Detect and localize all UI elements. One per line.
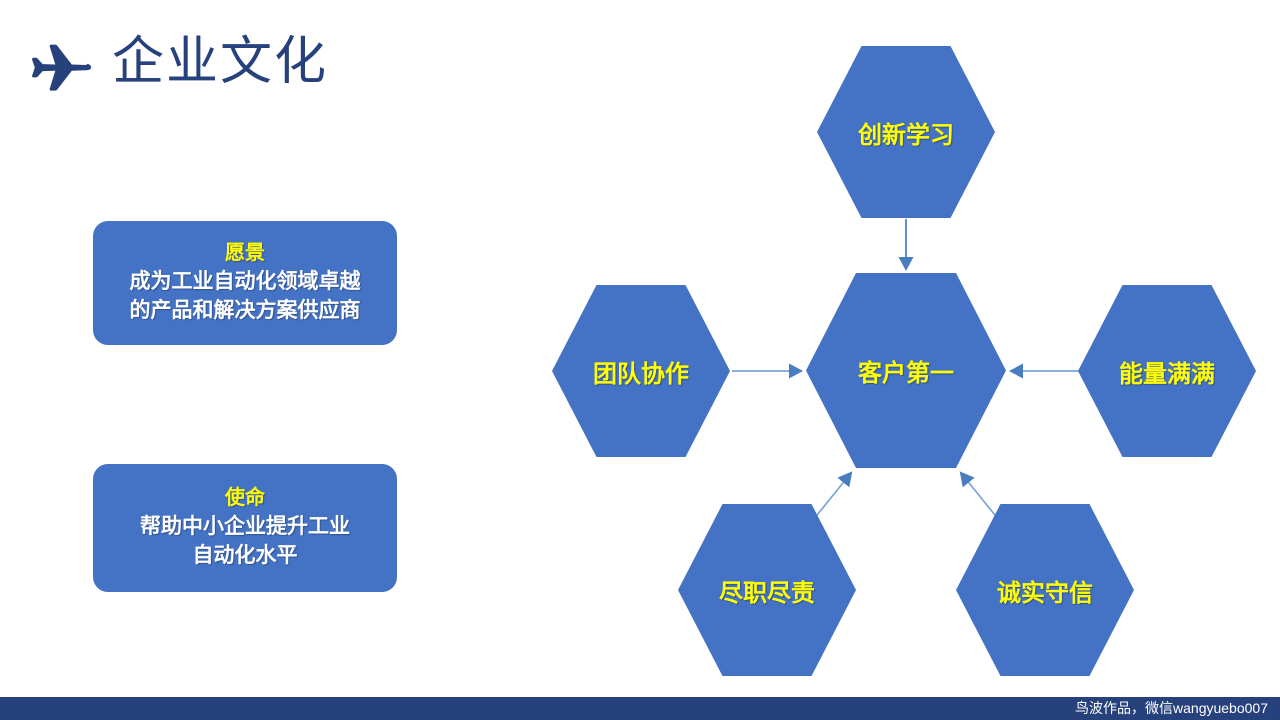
hexagon-integrity[interactable]: 诚实守信 <box>956 504 1134 676</box>
vision-card: 愿景 成为工业自动化领域卓越 的产品和解决方案供应商 <box>93 221 397 345</box>
hexagon-energy[interactable]: 能量满满 <box>1078 285 1256 457</box>
footer-credit: 鸟波作品，微信wangyuebo007 <box>1075 697 1268 720</box>
mission-card-body: 帮助中小企业提升工业 自动化水平 <box>140 512 350 570</box>
hexagon-diligence-label: 尽职尽责 <box>719 573 815 608</box>
hexagon-customer-first[interactable]: 客户第一 <box>806 273 1006 468</box>
hexagon-teamwork-label: 团队协作 <box>593 354 689 389</box>
hexagon-diagram: 创新学习 团队协作 客户第一 能量满满 尽职尽责 诚实守信 <box>520 10 1280 700</box>
hexagon-innovation-label: 创新学习 <box>858 115 954 150</box>
hexagon-integrity-label: 诚实守信 <box>997 573 1093 608</box>
mission-card-heading: 使命 <box>225 485 265 512</box>
hexagon-diligence[interactable]: 尽职尽责 <box>678 504 856 676</box>
airplane-icon <box>24 30 96 102</box>
footer-bar: 鸟波作品，微信wangyuebo007 <box>0 697 1280 720</box>
vision-card-body: 成为工业自动化领域卓越 的产品和解决方案供应商 <box>130 267 361 325</box>
hexagon-teamwork[interactable]: 团队协作 <box>552 285 730 457</box>
hexagon-innovation[interactable]: 创新学习 <box>817 46 995 218</box>
mission-card: 使命 帮助中小企业提升工业 自动化水平 <box>93 464 397 592</box>
hexagon-customer-first-label: 客户第一 <box>858 353 954 388</box>
slide-canvas: 企业文化 愿景 成为工业自动化领域卓越 的产品和解决方案供应商 使命 帮助中小企… <box>0 0 1280 720</box>
vision-card-heading: 愿景 <box>225 240 265 267</box>
hexagon-energy-label: 能量满满 <box>1119 354 1215 389</box>
page-title: 企业文化 <box>112 26 328 98</box>
